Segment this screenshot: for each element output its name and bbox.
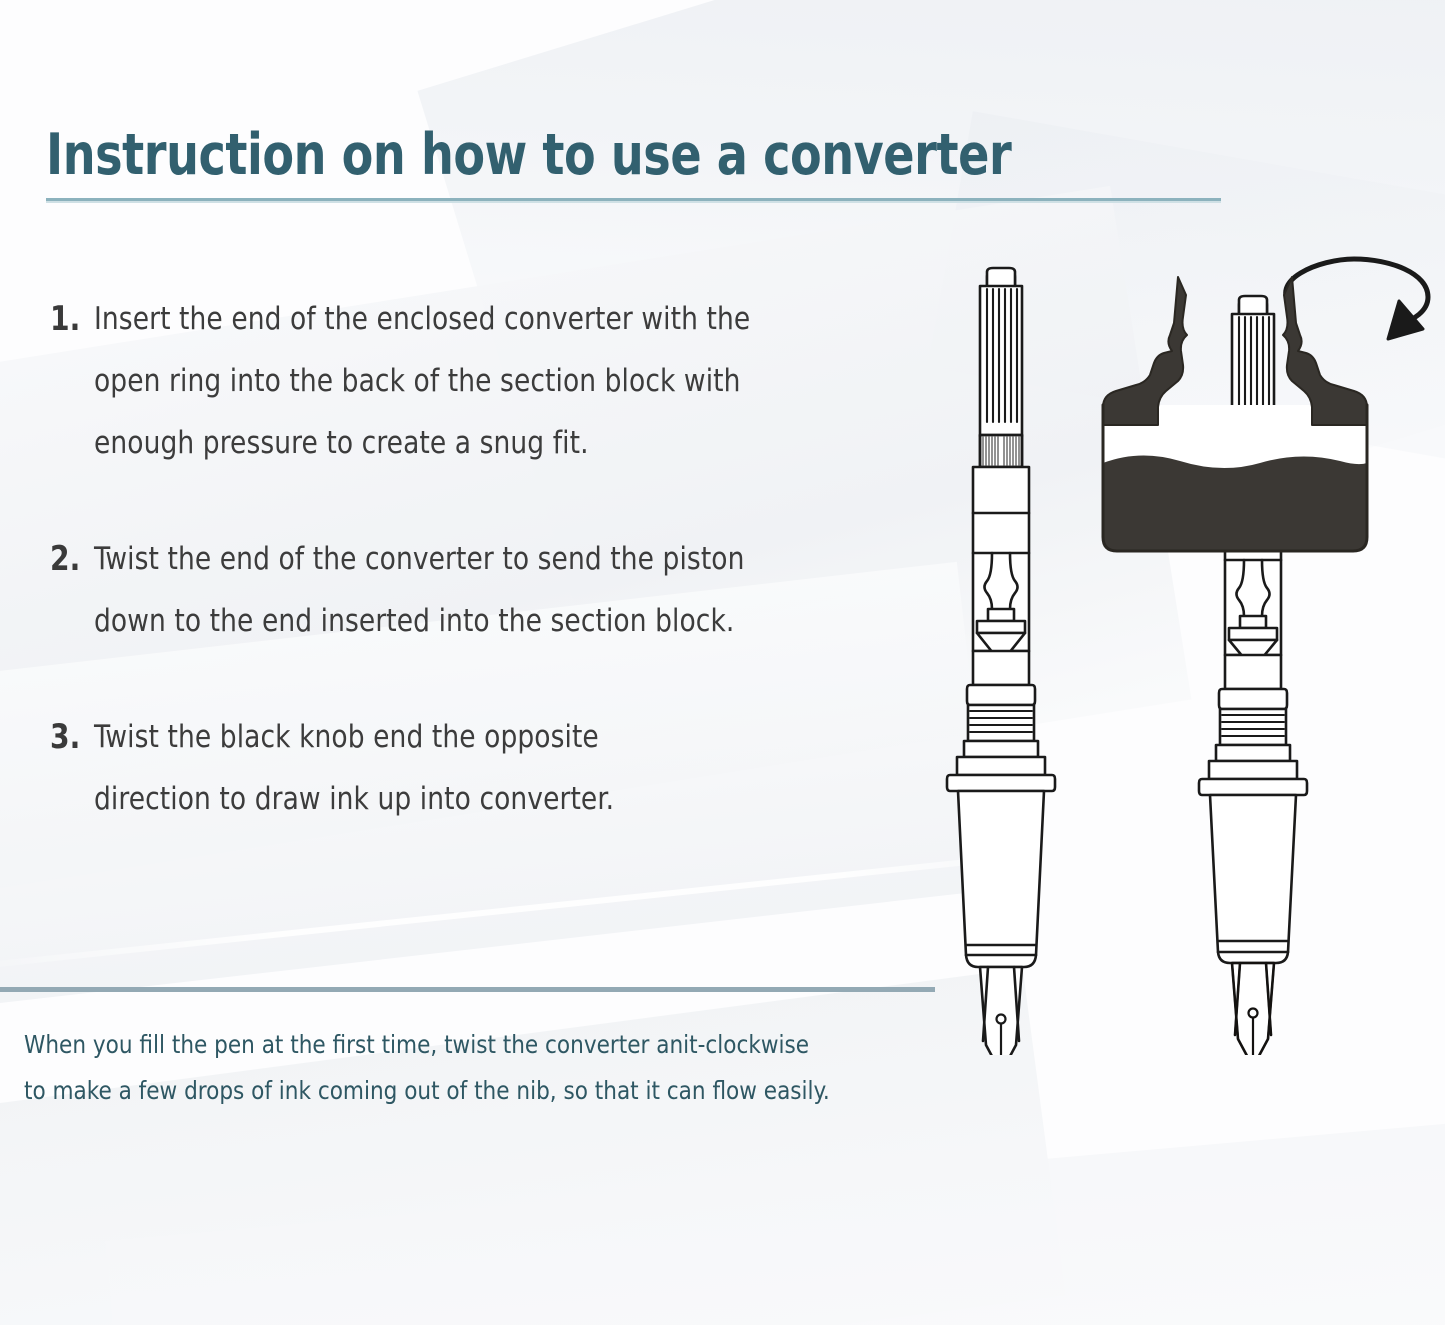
header: Instruction on how to use a converter (46, 126, 1236, 201)
instruction-graphic: Instruction on how to use a converter 1.… (0, 0, 1445, 1325)
left-pen-figure (947, 268, 1055, 1055)
step-line: direction to draw ink up into converter. (94, 768, 907, 830)
pen-and-ink-bottle-illustration (940, 255, 1445, 1055)
step-line: Twist the black knob end the opposite (94, 706, 907, 768)
right-pen-nib-group (1210, 795, 1296, 1055)
title-underline-rule (46, 198, 1221, 201)
steps-list: 1. Insert the end of the enclosed conver… (50, 288, 950, 830)
step-line: down to the end inserted into the sectio… (94, 590, 907, 652)
step-text: Insert the end of the enclosed converter… (94, 288, 907, 474)
page-title: Instruction on how to use a converter (46, 126, 1117, 186)
illustration-area (940, 255, 1445, 1055)
step-item: 3. Twist the black knob end the opposite… (50, 706, 950, 830)
footer-note: When you fill the pen at the first time,… (24, 1022, 984, 1114)
footer-note-line: When you fill the pen at the first time,… (24, 1022, 984, 1068)
step-text: Twist the end of the converter to send t… (94, 528, 907, 652)
step-number: 2. (50, 528, 90, 590)
footer-divider-rule (0, 987, 935, 992)
step-line: Insert the end of the enclosed converter… (94, 288, 907, 350)
bg-shape-band-d (105, 1110, 1445, 1325)
step-item: 1. Insert the end of the enclosed conver… (50, 288, 950, 474)
step-line: Twist the end of the converter to send t… (94, 528, 907, 590)
step-item: 2. Twist the end of the converter to sen… (50, 528, 950, 652)
step-line: enough pressure to create a snug fit. (94, 412, 907, 474)
step-number: 1. (50, 288, 90, 350)
ink-fill (1103, 455, 1367, 555)
step-line: open ring into the back of the section b… (94, 350, 907, 412)
step-text: Twist the black knob end the opposite di… (94, 706, 907, 830)
footer-note-line: to make a few drops of ink coming out of… (24, 1068, 984, 1114)
step-number: 3. (50, 706, 90, 768)
